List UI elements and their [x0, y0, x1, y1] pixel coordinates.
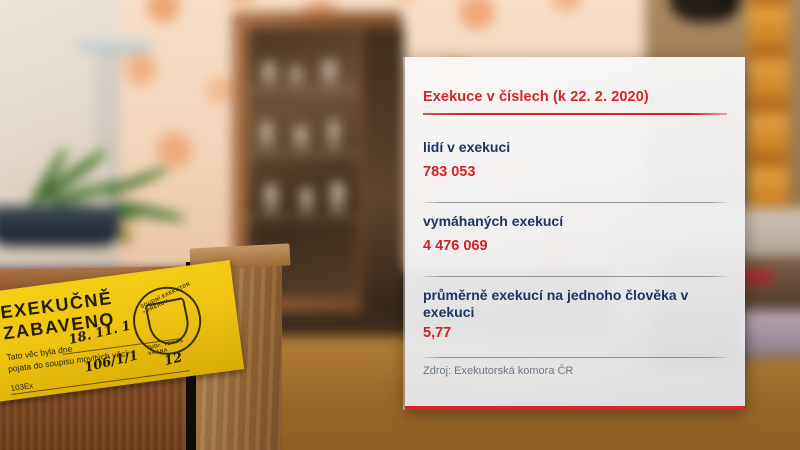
bailiff-stamp-icon: SOUDNÍ EXEKUTOR • PŘEROV JUDr. TOMÁŠ VRÁ… — [127, 281, 207, 361]
panel-title: Exekuce v číslech (k 22. 2. 2020) — [423, 89, 649, 105]
stat-label: vymáhaných exekucí — [423, 213, 727, 230]
stat-item: průměrně exekucí na jednoho člověka v ex… — [423, 287, 727, 341]
stat-label: průměrně exekucí na jednoho člověka v ex… — [423, 287, 727, 321]
stat-divider — [423, 357, 727, 358]
stat-value: 4 476 069 — [423, 238, 727, 254]
panel-title-underline — [423, 113, 727, 115]
stat-item: lidí v exekuci 783 053 — [423, 139, 727, 180]
stat-divider — [423, 276, 727, 277]
stat-value: 5,77 — [423, 325, 727, 341]
stat-value: 783 053 — [423, 164, 727, 180]
stat-divider — [423, 202, 727, 203]
source-note: Zdroj: Exekutorská komora ČR — [423, 365, 573, 377]
stat-label: lidí v exekuci — [423, 139, 727, 156]
handwritten-item: 12 — [163, 350, 184, 369]
stats-panel: Exekuce v číslech (k 22. 2. 2020) lidí v… — [405, 57, 745, 410]
screenshot-root: EXEKUČNĚ ZABAVENO SOUDNÍ EXEKUTOR • PŘER… — [0, 0, 800, 450]
stat-item: vymáhaných exekucí 4 476 069 — [423, 213, 727, 254]
